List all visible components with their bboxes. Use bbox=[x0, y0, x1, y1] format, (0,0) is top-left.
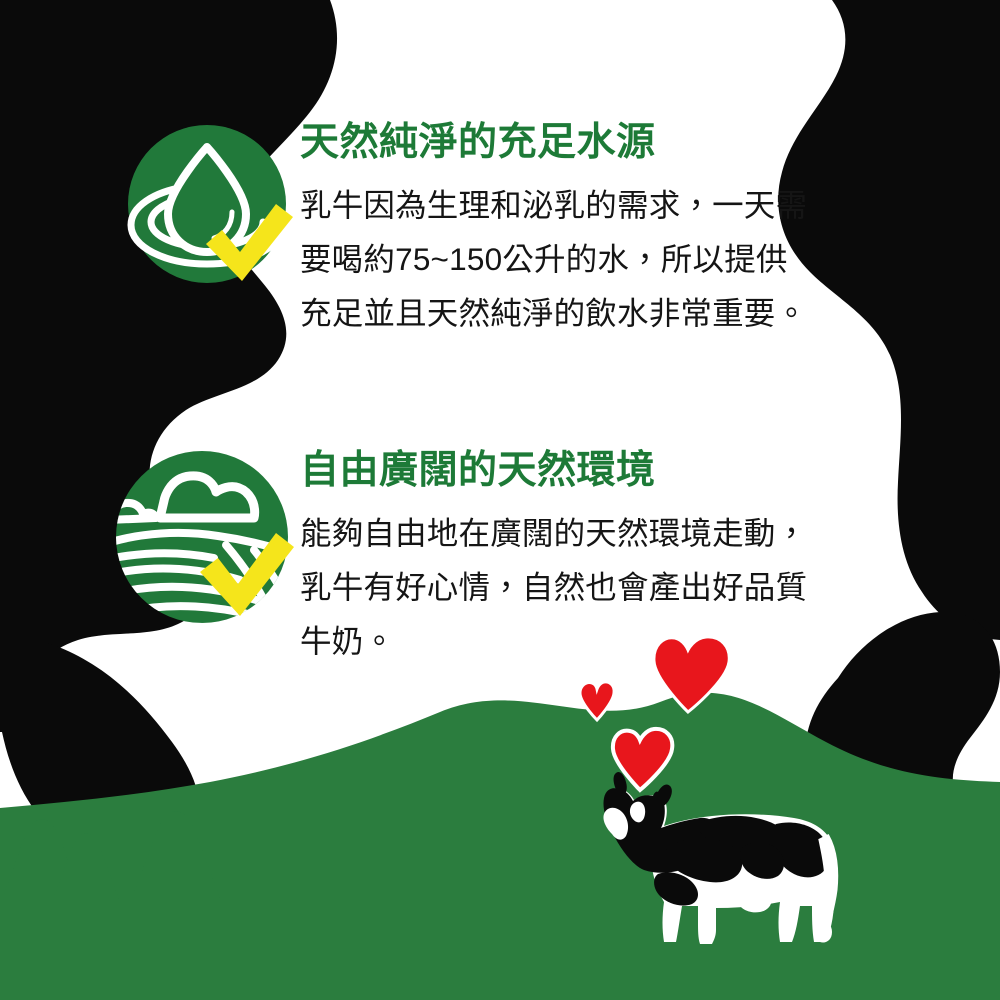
poster-canvas: 天然純淨的充足水源 乳牛因為生理和泌乳的需求，一天需 要喝約75~150公升的水… bbox=[0, 0, 1000, 1000]
feature-body-water-line-3: 充足並且天然純淨的飲水非常重要。 bbox=[300, 286, 885, 340]
feature-body-nature-line-2: 乳牛有好心情，自然也會產出好品質 bbox=[300, 560, 885, 614]
feature-title-water: 天然純淨的充足水源 bbox=[300, 120, 885, 166]
feature-body-water-line-1: 乳牛因為生理和泌乳的需求，一天需 bbox=[300, 178, 885, 232]
water-drop-ripple-check-icon bbox=[128, 125, 286, 283]
content-layer: 天然純淨的充足水源 乳牛因為生理和泌乳的需求，一天需 要喝約75~150公升的水… bbox=[0, 0, 1000, 1000]
field-cloud-landscape-check-icon bbox=[118, 454, 290, 626]
feature-body-nature-line-3: 牛奶。 bbox=[300, 614, 885, 668]
feature-title-nature: 自由廣闊的天然環境 bbox=[300, 448, 885, 494]
feature-body-water-line-2: 要喝約75~150公升的水，所以提供 bbox=[300, 232, 885, 286]
feature-text-water: 天然純淨的充足水源 乳牛因為生理和泌乳的需求，一天需 要喝約75~150公升的水… bbox=[300, 120, 885, 341]
feature-text-nature: 自由廣闊的天然環境 能夠自由地在廣闊的天然環境走動， 乳牛有好心情，自然也會產出… bbox=[300, 448, 885, 669]
feature-body-nature-line-1: 能夠自由地在廣闊的天然環境走動， bbox=[300, 506, 885, 560]
